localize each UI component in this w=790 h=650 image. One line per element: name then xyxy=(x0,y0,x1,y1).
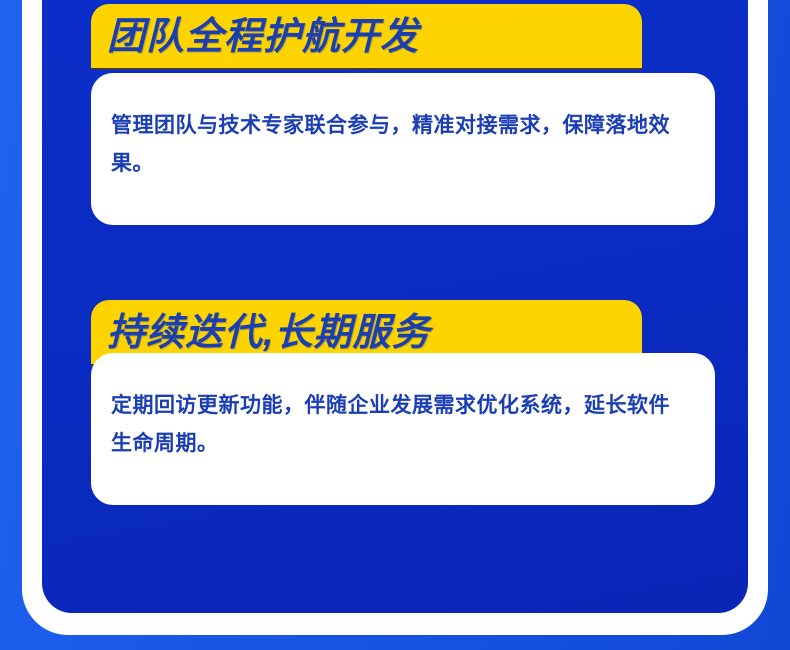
feature-card-1-description: 管理团队与技术专家联合参与，精准对接需求，保障落地效果。 xyxy=(111,107,689,183)
feature-card-1-header: 团队全程护航开发 xyxy=(91,4,642,70)
content-panel: 团队全程护航开发 管理团队与技术专家联合参与，精准对接需求，保障落地效果。 持续… xyxy=(42,0,748,613)
feature-card-2-description: 定期回访更新功能，伴随企业发展需求优化系统，延长软件生命周期。 xyxy=(111,387,689,463)
feature-card-1-body: 管理团队与技术专家联合参与，精准对接需求，保障落地效果。 xyxy=(91,73,715,225)
feature-card-1-title: 团队全程护航开发 xyxy=(91,18,419,56)
poster-root: 团队全程护航开发 管理团队与技术专家联合参与，精准对接需求，保障落地效果。 持续… xyxy=(0,0,790,650)
feature-card-2-body: 定期回访更新功能，伴随企业发展需求优化系统，延长软件生命周期。 xyxy=(91,353,715,505)
feature-card-2-title: 持续迭代,长期服务 xyxy=(91,314,431,352)
